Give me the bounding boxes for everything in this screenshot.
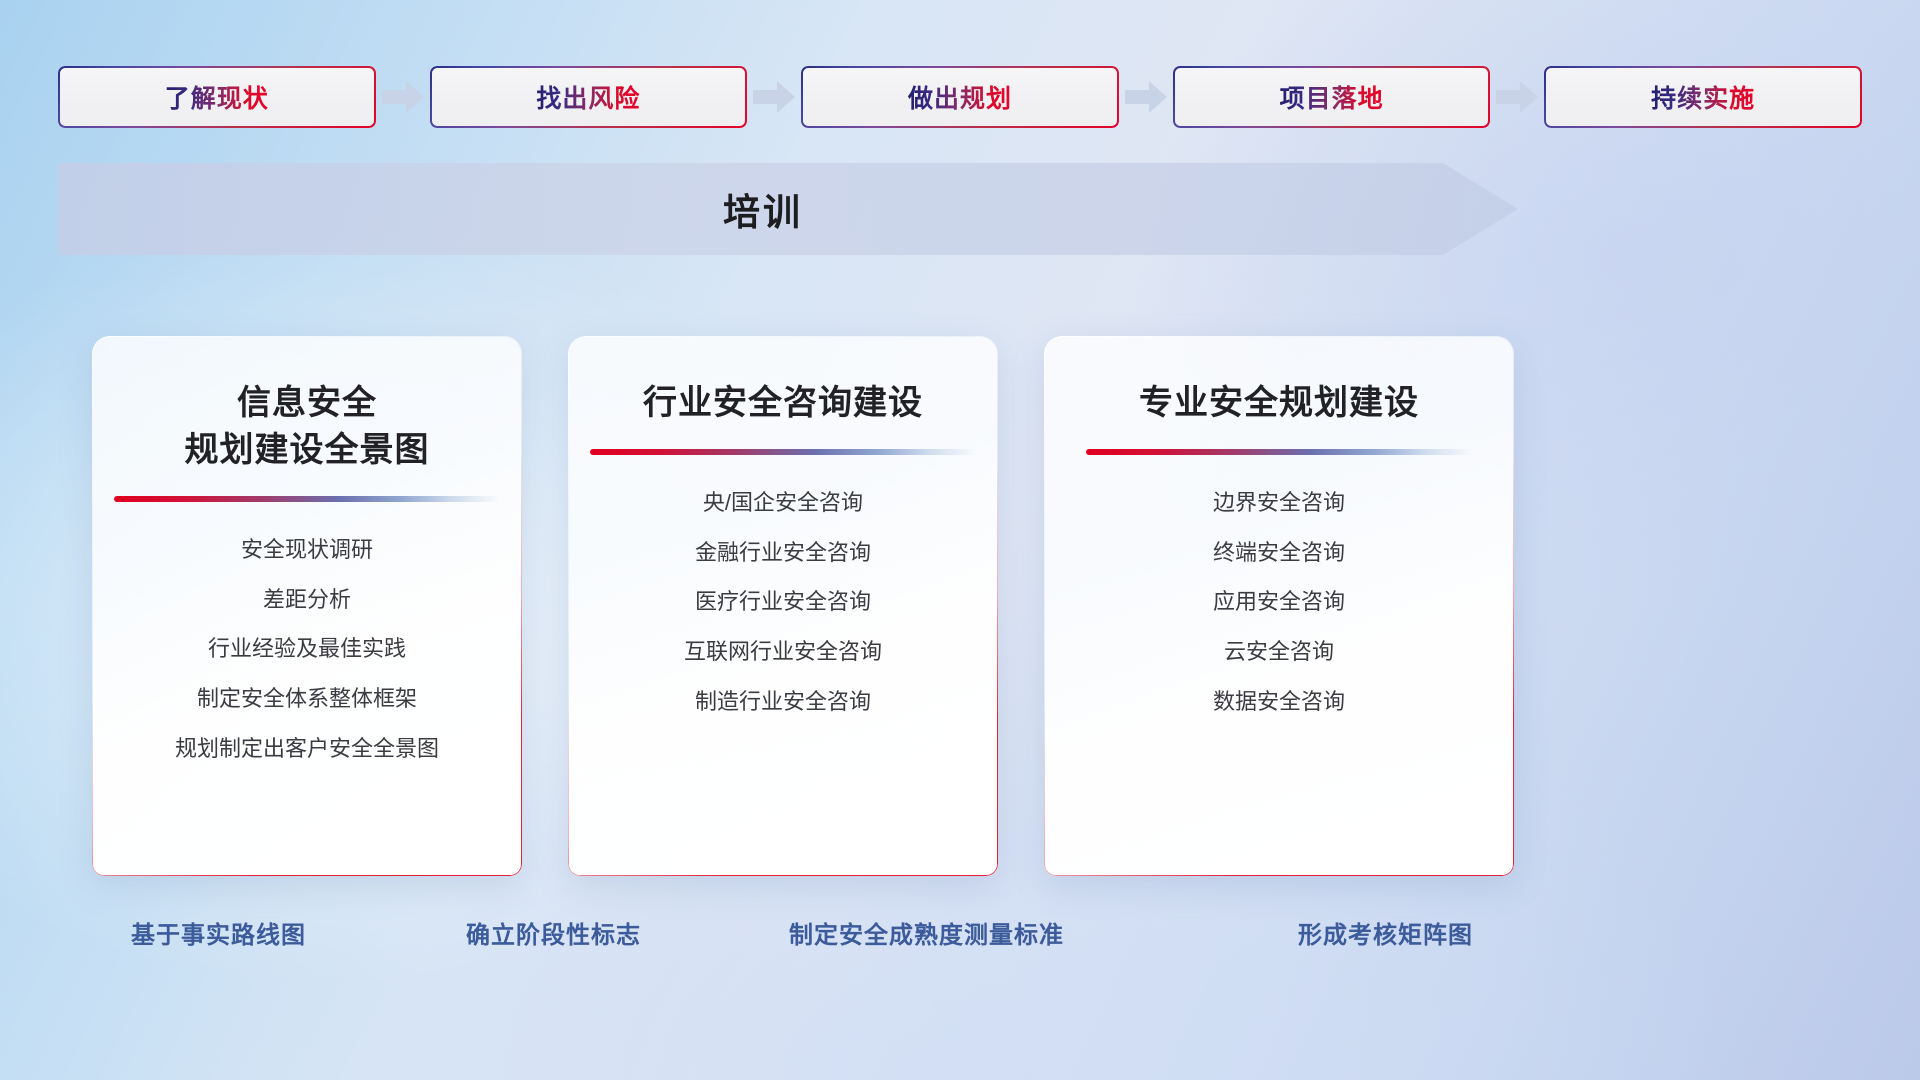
caption-row: 基于事实路线图 确立阶段性标志 制定安全成熟度测量标准 形成考核矩阵图 xyxy=(0,915,1920,959)
list-item: 医疗行业安全咨询 xyxy=(695,582,871,623)
process-step-1[interactable]: 找出风险 xyxy=(430,66,748,128)
process-step-label: 项目落地 xyxy=(1280,79,1384,115)
process-step-label: 持续实施 xyxy=(1651,79,1755,115)
training-band-label: 培训 xyxy=(58,163,1468,255)
list-item: 差距分析 xyxy=(263,580,351,621)
card-title: 专业安全规划建设 xyxy=(1139,380,1419,427)
list-item: 互联网行业安全咨询 xyxy=(684,632,882,673)
process-step-row: 了解现状 找出风险 做出规划 项目落地 xyxy=(58,62,1862,132)
arrow-right-icon xyxy=(376,77,430,117)
card-professional-planning[interactable]: 专业安全规划建设 边界安全咨询 终端安全咨询 应用安全咨询 云安全咨询 数据安全… xyxy=(1044,336,1514,876)
card-divider xyxy=(1086,449,1472,455)
list-item: 边界安全咨询 xyxy=(1213,483,1345,524)
process-step-2[interactable]: 做出规划 xyxy=(801,66,1119,128)
list-item: 安全现状调研 xyxy=(241,530,373,571)
list-item: 应用安全咨询 xyxy=(1213,582,1345,623)
arrow-right-icon xyxy=(1119,77,1173,117)
training-band: 培训 xyxy=(58,163,1518,255)
slide-canvas: 了解现状 找出风险 做出规划 项目落地 xyxy=(0,0,1920,1080)
arrow-right-icon xyxy=(1490,77,1544,117)
card-panorama[interactable]: 信息安全 规划建设全景图 安全现状调研 差距分析 行业经验及最佳实践 制定安全体… xyxy=(92,336,522,876)
process-step-3[interactable]: 项目落地 xyxy=(1173,66,1491,128)
caption-item: 制定安全成熟度测量标准 xyxy=(789,915,1064,950)
caption-item: 基于事实路线图 xyxy=(131,915,306,950)
list-item: 制定安全体系整体框架 xyxy=(197,679,417,720)
list-item: 规划制定出客户安全全景图 xyxy=(175,729,439,770)
arrow-right-icon xyxy=(747,77,801,117)
process-step-label: 了解现状 xyxy=(165,79,269,115)
card-industry-consulting[interactable]: 行业安全咨询建设 央/国企安全咨询 金融行业安全咨询 医疗行业安全咨询 互联网行… xyxy=(568,336,998,876)
list-item: 终端安全咨询 xyxy=(1213,533,1345,574)
list-item: 数据安全咨询 xyxy=(1213,682,1345,723)
process-step-4[interactable]: 持续实施 xyxy=(1544,66,1862,128)
list-item: 金融行业安全咨询 xyxy=(695,533,871,574)
process-step-label: 做出规划 xyxy=(908,79,1012,115)
list-item: 制造行业安全咨询 xyxy=(695,682,871,723)
process-step-label: 找出风险 xyxy=(536,79,640,115)
card-list: 边界安全咨询 终端安全咨询 应用安全咨询 云安全咨询 数据安全咨询 xyxy=(1213,483,1345,722)
card-row: 信息安全 规划建设全景图 安全现状调研 差距分析 行业经验及最佳实践 制定安全体… xyxy=(0,336,1920,876)
process-step-0[interactable]: 了解现状 xyxy=(58,66,376,128)
caption-item: 确立阶段性标志 xyxy=(466,915,641,950)
list-item: 央/国企安全咨询 xyxy=(703,483,863,524)
list-item: 云安全咨询 xyxy=(1224,632,1334,673)
card-title: 信息安全 规划建设全景图 xyxy=(185,380,430,474)
card-divider xyxy=(590,449,976,455)
caption-item: 形成考核矩阵图 xyxy=(1298,915,1473,950)
card-divider xyxy=(114,496,500,502)
card-list: 央/国企安全咨询 金融行业安全咨询 医疗行业安全咨询 互联网行业安全咨询 制造行… xyxy=(684,483,882,722)
card-list: 安全现状调研 差距分析 行业经验及最佳实践 制定安全体系整体框架 规划制定出客户… xyxy=(175,530,439,769)
list-item: 行业经验及最佳实践 xyxy=(208,629,406,670)
card-title: 行业安全咨询建设 xyxy=(643,380,923,427)
